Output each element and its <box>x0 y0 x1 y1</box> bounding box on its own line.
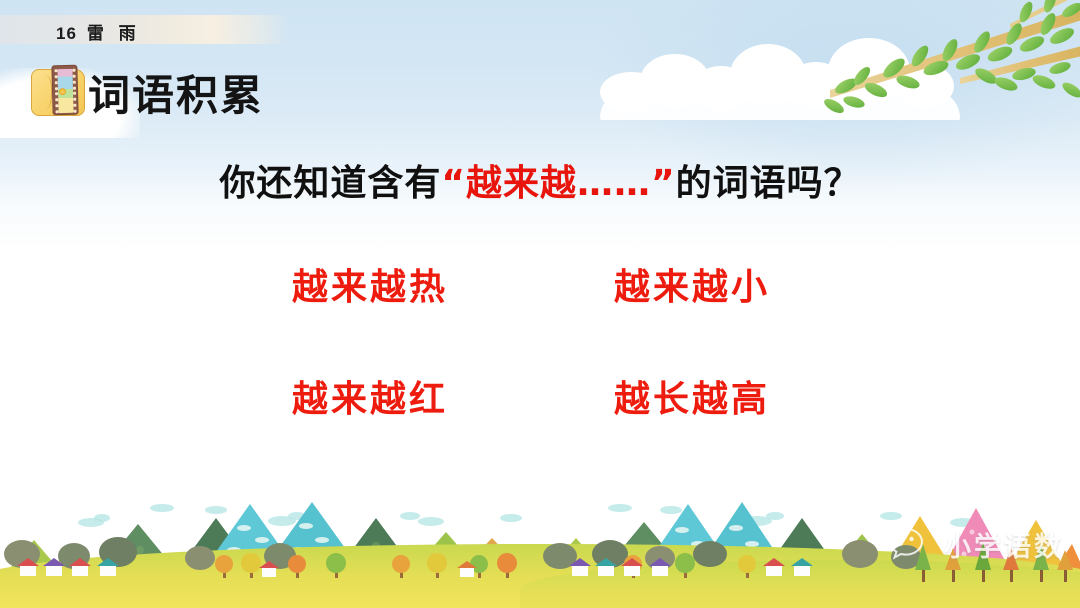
word-row: 越来越红 越长越高 <box>215 370 835 422</box>
question-line: 你还知道含有“越来越……”的词语吗？ <box>0 154 1080 206</box>
folder-flap <box>36 75 52 109</box>
lesson-title: 雷 雨 <box>87 24 141 43</box>
film-holes-right <box>72 69 76 113</box>
trees-and-houses-row <box>0 532 1080 586</box>
lesson-number: 16 <box>56 24 77 43</box>
word-list: 越来越热 越来越小 越来越红 越长越高 <box>215 258 835 422</box>
word-item: 越长越高 <box>525 370 835 422</box>
question-prefix: 你还知道含有 <box>219 163 441 204</box>
question-suffix: 的词语吗？ <box>676 163 861 204</box>
question-highlight: “越来越……” <box>441 163 675 204</box>
word-item: 越来越小 <box>525 258 835 310</box>
word-row: 越来越热 越来越小 <box>215 258 835 310</box>
word-item: 越来越红 <box>215 370 525 422</box>
lesson-header-bar <box>0 15 290 44</box>
cartoon-mountain-landscape <box>0 488 1080 608</box>
lesson-header-label: 16雷 雨 <box>56 19 141 44</box>
slide-canvas: 16雷 雨 词语积累 你还知道含有“越来越……”的词语吗？ 越来越热 <box>0 0 1080 608</box>
section-title: 词语积累 <box>88 62 264 123</box>
folder-photo-icon <box>31 64 85 118</box>
word-item: 越来越热 <box>215 258 525 310</box>
film-strip <box>51 65 78 116</box>
